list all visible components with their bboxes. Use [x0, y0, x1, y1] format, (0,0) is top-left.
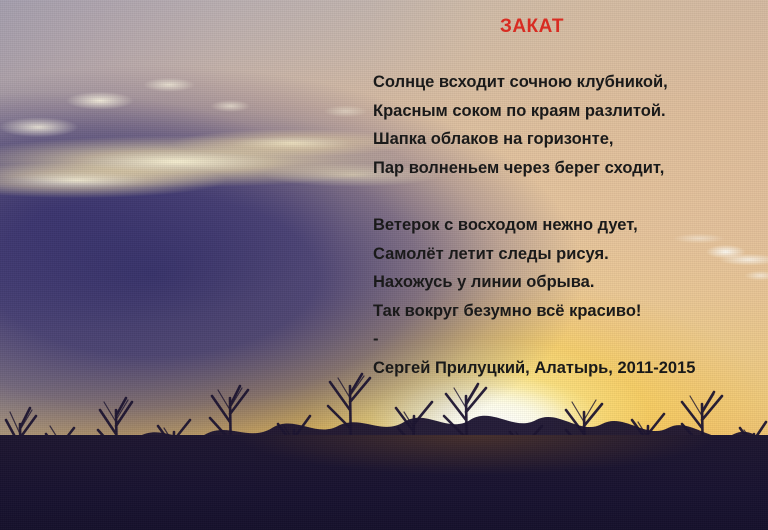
poem-line: Ветерок с восходом нежно дует, — [373, 211, 765, 240]
poem-line: Самолёт летит следы рисуя. — [373, 240, 765, 269]
poem-line: Так вокруг безумно всё красиво! — [373, 297, 765, 326]
poem-stanza-gap — [373, 182, 765, 211]
poem-attribution: Сергей Прилуцкий, Алатырь, 2011-2015 — [373, 354, 765, 383]
poem-body: Солнце всходит сочною клубникой, Красным… — [373, 68, 765, 383]
poem-line: Нахожусь у линии обрыва. — [373, 268, 765, 297]
poem-line: Пар волненьем через берег сходит, — [373, 154, 765, 183]
poem-line: Красным соком по краям разлитой. — [373, 97, 765, 126]
poem-title: ЗАКАТ — [373, 15, 691, 39]
slide-canvas: ЗАКАТ Солнце всходит сочною клубникой, К… — [0, 0, 768, 530]
ground-sheen — [0, 435, 768, 495]
poem-line: Солнце всходит сочною клубникой, — [373, 68, 765, 97]
poem-line: Шапка облаков на горизонте, — [373, 125, 765, 154]
attribution-dash: - — [373, 325, 765, 354]
